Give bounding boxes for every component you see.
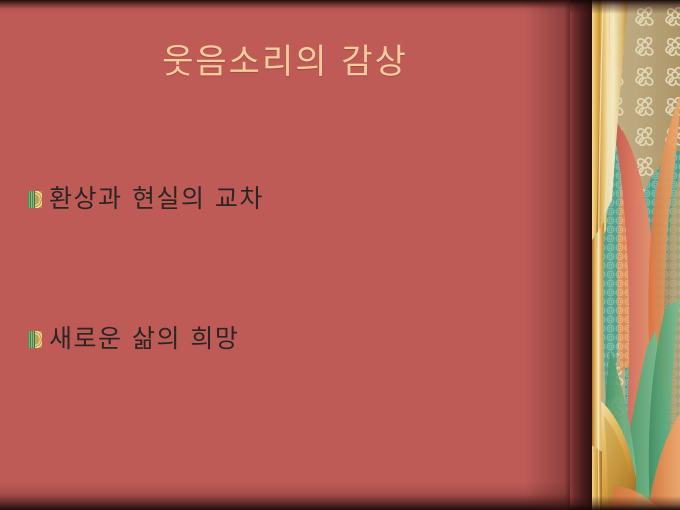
ornament-bullet-icon [28,331,42,348]
slide-bullet-list: 환상과 현실의 교차 새로운 삶의 희망 [0,182,540,462]
bullet-text: 새로운 삶의 희망 [49,322,239,356]
list-item: 새로운 삶의 희망 [0,322,540,462]
slide-canvas: 웃음소리의 감상 환상과 현실의 교차 새로운 삶의 희망 [0,0,680,510]
bullet-text: 환상과 현실의 교차 [49,182,264,216]
decorative-border-panel [570,0,680,510]
list-item: 환상과 현실의 교차 [0,182,540,322]
panel-edge-shadow [570,0,592,510]
slide-title: 웃음소리의 감상 [0,40,570,84]
ornament-bullet-icon [28,191,42,208]
